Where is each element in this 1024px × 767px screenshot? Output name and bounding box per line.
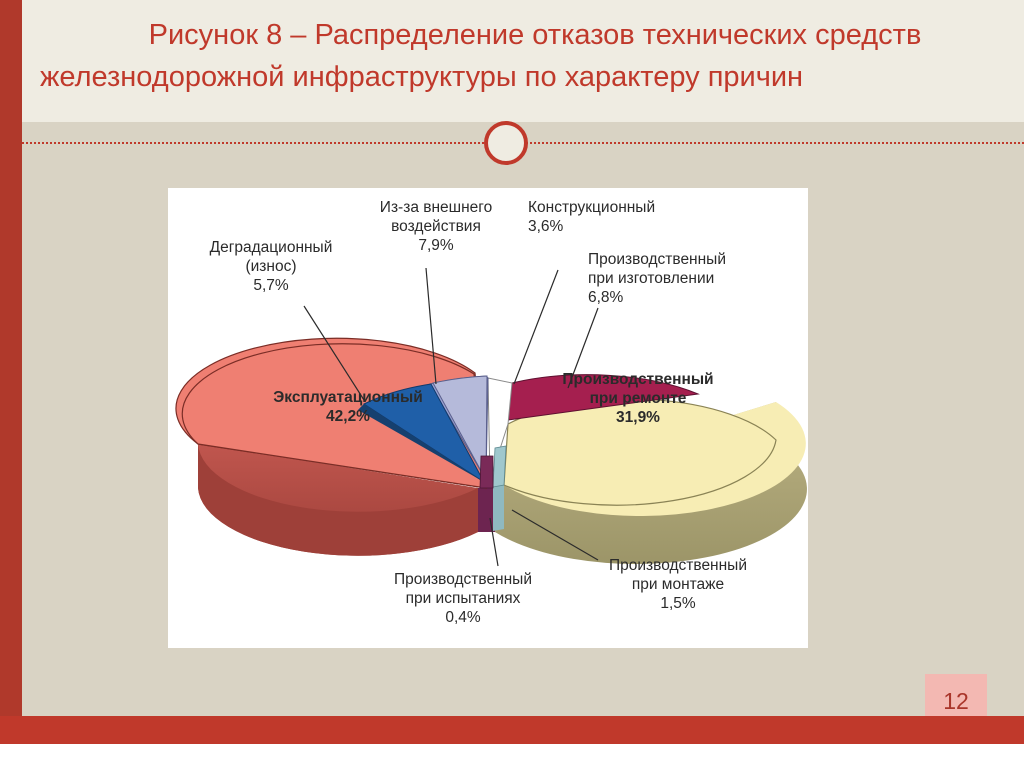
label-repair-line1: Производственный [562,371,713,388]
left-accent-bar-inner [0,0,22,716]
slice-side-testing [478,488,495,532]
label-manufacturing-value: 6,8% [588,289,623,306]
label-manufacturing-line1: Производственный [588,251,726,268]
label-operational: Эксплуатационный 42,2% [243,388,453,426]
label-repair: Производственный при ремонте 31,9% [538,370,738,427]
label-assembly-line2: при монтаже [632,576,724,593]
slide-title-area: Рисунок 8 – Распределение отказов технич… [22,0,1024,122]
page-title: Рисунок 8 – Распределение отказов технич… [40,14,1024,98]
label-manufacturing-line2: при изготовлении [588,270,714,287]
label-testing-value: 0,4% [445,609,480,626]
divider-circle-ornament [484,121,528,165]
label-degradation: Деградационный (износ) 5,7% [176,238,366,295]
label-external-line1: Из-за внешнего [380,199,492,216]
label-external-line2: воздействия [391,218,481,235]
slice-side-assembly [493,485,504,531]
label-construction-value: 3,6% [528,218,563,235]
label-manufacturing: Производственный при изготовлении 6,8% [588,250,798,307]
left-accent-bar [0,0,22,767]
slice-testing [480,456,493,488]
label-degradation-value: 5,7% [253,277,288,294]
page-title-line1: Рисунок 8 – Распределение отказов технич… [40,14,1024,56]
label-degradation-line2: (износ) [245,258,296,275]
label-assembly-value: 1,5% [660,595,695,612]
label-testing-line2: при испытаниях [406,590,521,607]
label-external-value: 7,9% [418,237,453,254]
label-repair-line2: при ремонте [590,390,687,407]
label-assembly: Производственный при монтаже 1,5% [578,556,778,613]
label-testing-line1: Производственный [394,571,532,588]
bottom-accent-bar [0,716,1024,744]
bottom-white-strip [0,744,1024,767]
label-repair-value: 31,9% [616,409,660,426]
label-operational-value: 42,2% [326,408,370,425]
pie-chart-panel: Деградационный (износ) 5,7% Из-за внешне… [168,188,808,648]
leader-line-construction [514,270,558,384]
slice-assembly [493,446,506,487]
label-degradation-line1: Деградационный [210,239,333,256]
label-assembly-line1: Производственный [609,557,747,574]
label-construction: Конструкционный 3,6% [528,198,718,236]
label-testing: Производственный при испытаниях 0,4% [363,570,563,627]
label-operational-line1: Эксплуатационный [273,389,422,406]
page-title-line2: железнодорожной инфраструктуры по характ… [40,56,1024,98]
label-construction-line1: Конструкционный [528,199,655,216]
label-external: Из-за внешнего воздействия 7,9% [346,198,526,255]
